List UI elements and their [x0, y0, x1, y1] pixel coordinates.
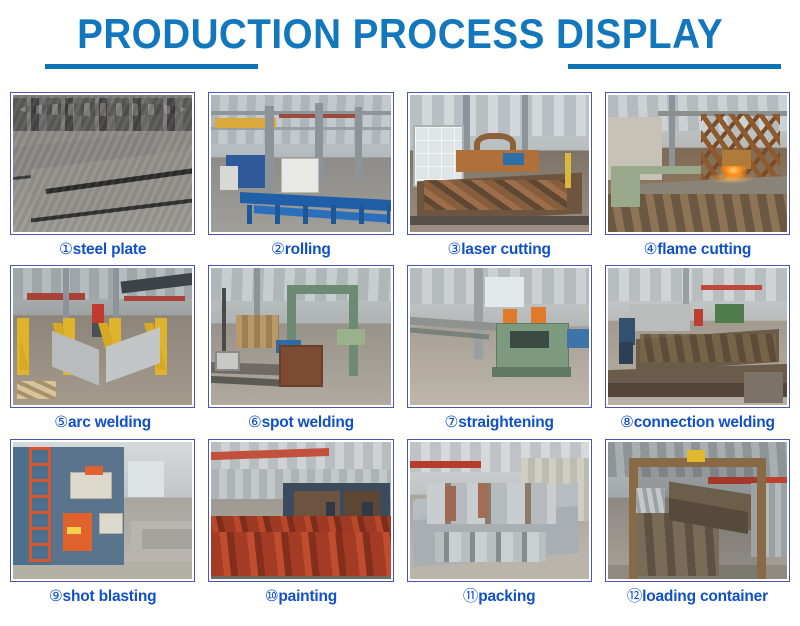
photo-frame-9 — [10, 439, 195, 582]
caption-5: ⑤arc welding — [54, 413, 151, 432]
process-cell-12[interactable]: ⑫loading container — [605, 439, 790, 606]
photo-packing — [410, 442, 589, 579]
caption-label-12: loading container — [642, 588, 768, 605]
page-header: PRODUCTION PROCESS DISPLAY — [0, 0, 800, 92]
page-title: PRODUCTION PROCESS DISPLAY — [77, 0, 723, 56]
caption-number-12: ⑫ — [627, 588, 642, 605]
caption-label-4: flame cutting — [657, 241, 751, 258]
photo-frame-8 — [605, 265, 790, 408]
photo-flame-cutting — [608, 95, 787, 232]
caption-1: ①steel plate — [59, 240, 146, 259]
caption-3: ③laser cutting — [447, 240, 550, 259]
process-gallery-grid: ①steel plate ②rolling — [0, 92, 800, 606]
photo-frame-11 — [407, 439, 592, 582]
process-cell-3[interactable]: ③laser cutting — [407, 92, 592, 259]
process-cell-11[interactable]: ⑪packing — [407, 439, 592, 606]
production-process-page: PRODUCTION PROCESS DISPLAY ①steel plate — [0, 0, 800, 626]
photo-straightening — [410, 268, 589, 405]
caption-8: ⑧connection welding — [620, 413, 775, 432]
caption-number-1: ① — [59, 241, 73, 258]
photo-frame-2 — [208, 92, 393, 235]
caption-number-9: ⑨ — [49, 588, 63, 605]
process-cell-7[interactable]: ⑦straightening — [407, 265, 592, 432]
photo-frame-7 — [407, 265, 592, 408]
process-cell-10[interactable]: ⑩painting — [208, 439, 393, 606]
title-rule-right — [568, 64, 781, 69]
photo-frame-4 — [605, 92, 790, 235]
photo-loading-container — [608, 442, 787, 579]
caption-number-3: ③ — [447, 241, 461, 258]
caption-number-11: ⑪ — [463, 588, 478, 605]
title-rule-left — [45, 64, 258, 69]
photo-steel-plate — [13, 95, 192, 232]
caption-number-4: ④ — [644, 241, 658, 258]
caption-label-10: painting — [278, 588, 337, 605]
caption-label-2: rolling — [285, 241, 331, 258]
process-cell-1[interactable]: ①steel plate — [10, 92, 195, 259]
caption-number-10: ⑩ — [265, 588, 279, 605]
caption-label-1: steel plate — [73, 241, 147, 258]
photo-rolling — [211, 95, 390, 232]
caption-label-5: arc welding — [68, 414, 151, 431]
caption-label-3: laser cutting — [461, 241, 551, 258]
caption-4: ④flame cutting — [644, 240, 752, 259]
caption-12: ⑫loading container — [627, 587, 768, 606]
caption-number-8: ⑧ — [620, 414, 634, 431]
caption-10: ⑩painting — [265, 587, 337, 606]
caption-9: ⑨shot blasting — [49, 587, 157, 606]
caption-number-5: ⑤ — [54, 414, 68, 431]
process-cell-9[interactable]: ⑨shot blasting — [10, 439, 195, 606]
caption-2: ②rolling — [271, 240, 331, 259]
caption-label-8: connection welding — [634, 414, 775, 431]
photo-arc-welding — [13, 268, 192, 405]
photo-frame-3 — [407, 92, 592, 235]
caption-label-11: packing — [478, 588, 535, 605]
caption-label-6: spot welding — [262, 414, 354, 431]
process-cell-4[interactable]: ④flame cutting — [605, 92, 790, 259]
caption-11: ⑪packing — [463, 587, 535, 606]
caption-label-9: shot blasting — [63, 588, 157, 605]
caption-6: ⑥spot welding — [248, 413, 354, 432]
photo-laser-cutting — [410, 95, 589, 232]
photo-frame-10 — [208, 439, 393, 582]
caption-label-7: straightening — [458, 414, 554, 431]
process-cell-5[interactable]: ⑤arc welding — [10, 265, 195, 432]
photo-frame-1 — [10, 92, 195, 235]
caption-number-6: ⑥ — [248, 414, 262, 431]
process-cell-6[interactable]: ⑥spot welding — [208, 265, 393, 432]
photo-connection-welding — [608, 268, 787, 405]
photo-frame-12 — [605, 439, 790, 582]
photo-spot-welding — [211, 268, 390, 405]
caption-number-7: ⑦ — [444, 414, 458, 431]
photo-shot-blasting — [13, 442, 192, 579]
photo-frame-6 — [208, 265, 393, 408]
caption-number-2: ② — [271, 241, 285, 258]
process-cell-2[interactable]: ②rolling — [208, 92, 393, 259]
photo-frame-5 — [10, 265, 195, 408]
process-cell-8[interactable]: ⑧connection welding — [605, 265, 790, 432]
caption-7: ⑦straightening — [444, 413, 553, 432]
photo-painting — [211, 442, 390, 579]
